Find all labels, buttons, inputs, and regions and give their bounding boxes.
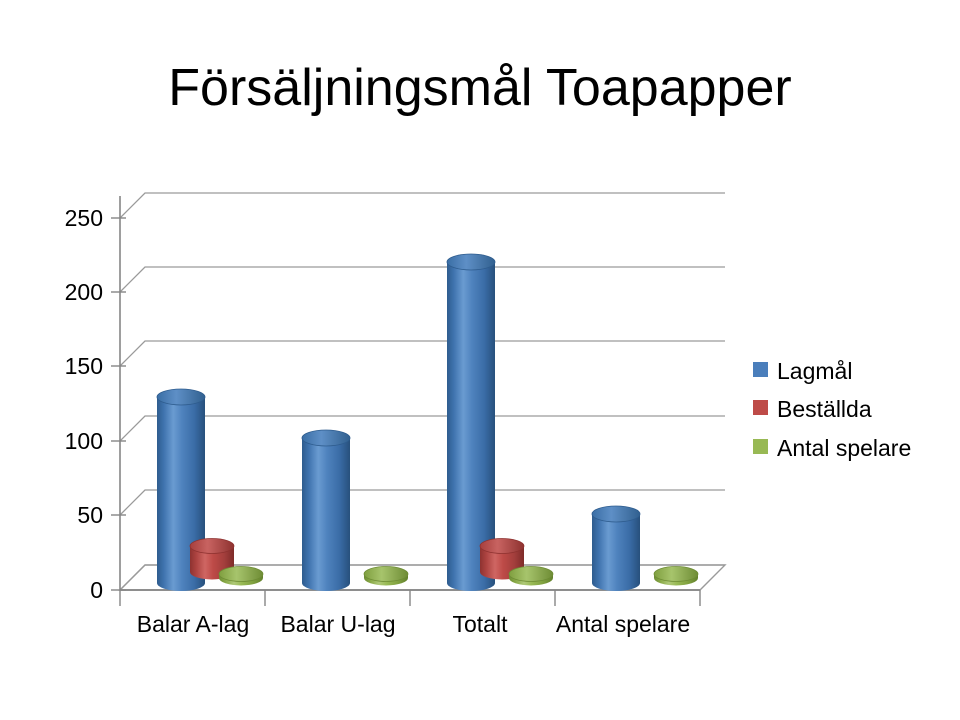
bar-lagmal-balar-u-lag[interactable]	[302, 430, 350, 591]
y-tick-label: 200	[65, 279, 103, 305]
legend-swatch-icon	[753, 400, 768, 415]
x-axis	[120, 590, 700, 606]
legend-swatch-icon	[753, 362, 768, 377]
y-tick-labels: 250 200 150 100 50 0	[65, 205, 103, 603]
legend-label: Antal spelare	[777, 435, 911, 461]
y-axis	[111, 196, 126, 590]
bar-antal-spelare-antal-spelare[interactable]	[654, 567, 698, 586]
x-category-label: Balar A-lag	[137, 611, 250, 637]
bar-lagmal-antal-spelare[interactable]	[592, 506, 640, 591]
y-tick-label: 100	[65, 428, 103, 454]
x-category-labels: Balar A-lag Balar U-lag Totalt Antal spe…	[137, 611, 690, 637]
legend-label: Lagmål	[777, 358, 852, 384]
y-tick-label: 250	[65, 205, 103, 231]
legend-item-bestallda[interactable]: Beställda	[753, 396, 872, 422]
legend-item-antal-spelare[interactable]: Antal spelare	[753, 435, 911, 461]
bar-antal-spelare-balar-a-lag[interactable]	[219, 567, 263, 586]
legend-label: Beställda	[777, 396, 872, 422]
legend-item-lagmal[interactable]: Lagmål	[753, 358, 852, 384]
y-tick-label: 0	[90, 577, 103, 603]
bar-group-totalt	[447, 254, 553, 591]
y-tick-label: 50	[77, 502, 103, 528]
x-category-label: Balar U-lag	[280, 611, 395, 637]
bar-antal-spelare-balar-u-lag[interactable]	[364, 567, 408, 586]
chart-plot-area: 250 200 150 100 50 0	[0, 0, 960, 720]
bar-antal-spelare-totalt[interactable]	[509, 567, 553, 586]
x-category-label: Antal spelare	[556, 611, 690, 637]
chart-legend: Lagmål Beställda Antal spelare	[753, 358, 911, 461]
x-category-label: Totalt	[453, 611, 509, 637]
y-tick-label: 150	[65, 353, 103, 379]
chart-container: Försäljningsmål Toapapper	[0, 0, 960, 720]
legend-swatch-icon	[753, 439, 768, 454]
